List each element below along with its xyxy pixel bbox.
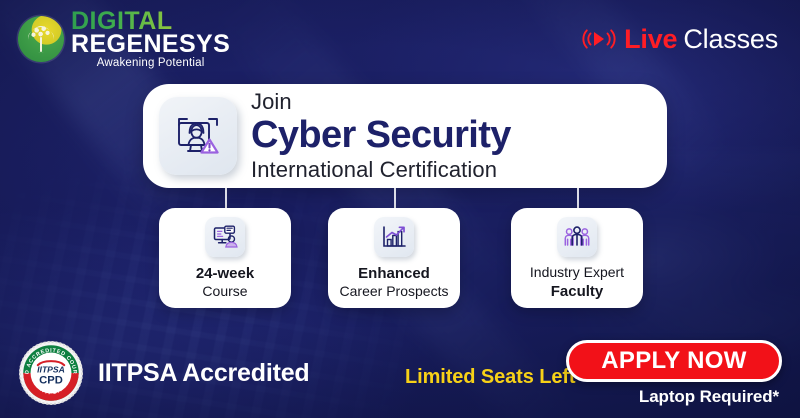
feature-label-line1: 24-week: [196, 264, 254, 283]
feature-icon-tile: [557, 217, 597, 257]
brand-tagline: Awakening Potential: [71, 58, 230, 70]
hero-eyebrow: Join: [251, 91, 511, 113]
growth-bar-chart-icon: [380, 223, 408, 251]
promo-banner: DIGITAL REGENESYS Awakening Potential Li…: [0, 0, 800, 418]
cyber-security-monitor-icon: [171, 109, 225, 163]
laptop-required-note: Laptop Required*: [639, 387, 779, 407]
tree-canopy-shape: [30, 23, 52, 40]
brand-logo[interactable]: DIGITAL REGENESYS Awakening Potential: [18, 8, 230, 70]
brand-word-regenesys: REGENESYS: [71, 32, 230, 57]
accreditation-label: IITPSA Accredited: [98, 359, 309, 388]
feature-label-line2: Faculty: [551, 282, 604, 301]
feature-label-line2: Career Prospects: [340, 283, 449, 301]
classes-word: Classes: [683, 24, 778, 54]
feature-card-faculty[interactable]: Industry Expert Faculty: [511, 208, 643, 308]
live-classes-wordmark: LiveClasses: [624, 24, 778, 55]
tree-circle-emblem-icon: [18, 16, 64, 62]
feature-label-line2: Course: [202, 283, 247, 301]
live-word: Live: [624, 24, 677, 54]
svg-text:IITPSA: IITPSA: [37, 364, 65, 374]
online-course-screen-icon: [211, 223, 239, 251]
apply-now-button[interactable]: APPLY NOW: [566, 340, 782, 382]
accreditation-block: CPD ACCREDITED COURSE IITPSA IITPSA CPD …: [18, 340, 309, 406]
feature-card-duration[interactable]: 24-week Course: [159, 208, 291, 308]
feature-icon-tile: [205, 217, 245, 257]
hero-card: Join Cyber Security International Certif…: [143, 84, 667, 188]
brand-logo-text: DIGITAL REGENESYS Awakening Potential: [71, 8, 230, 70]
feature-label-line1: Industry Expert: [530, 264, 624, 282]
banner-header: DIGITAL REGENESYS Awakening Potential Li…: [0, 0, 800, 78]
feature-icon-tile: [374, 217, 414, 257]
expert-faculty-people-icon: [563, 223, 591, 251]
svg-text:CPD: CPD: [39, 375, 63, 387]
live-broadcast-icon: [582, 27, 616, 51]
hero-title: Cyber Security: [251, 116, 511, 155]
feature-card-career[interactable]: Enhanced Career Prospects: [328, 208, 460, 308]
hero-icon-tile: [159, 97, 237, 175]
feature-label-line1: Enhanced: [358, 264, 430, 283]
hero-subtitle: International Certification: [251, 159, 511, 181]
live-classes-label: LiveClasses: [582, 24, 778, 55]
hero-text-block: Join Cyber Security International Certif…: [251, 91, 511, 181]
limited-seats-text: Limited Seats Left: [405, 366, 575, 389]
iitpsa-cpd-accredited-badge-icon: CPD ACCREDITED COURSE IITPSA IITPSA CPD: [18, 340, 84, 406]
feature-card-row: 24-week Course Enhanced Career Prospects: [0, 208, 800, 308]
